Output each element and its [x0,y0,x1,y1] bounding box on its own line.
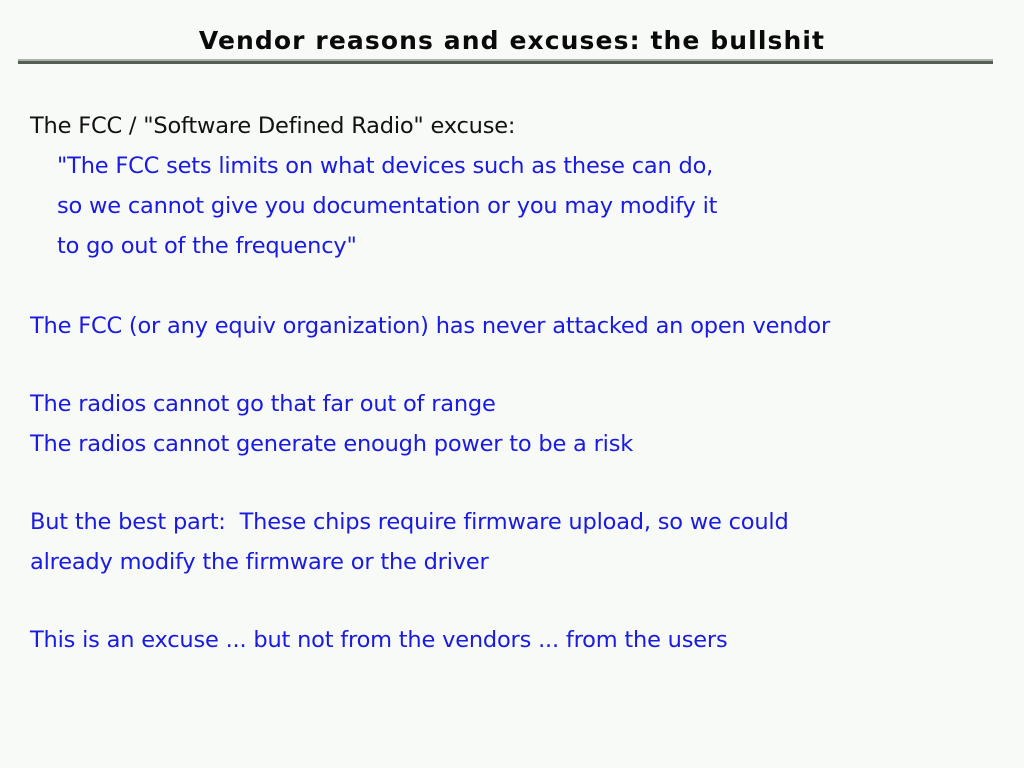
text-line: The radios cannot generate enough power … [30,424,1005,464]
text-line: The FCC / "Software Defined Radio" excus… [30,106,1005,146]
text-block-excuse-from-users: This is an excuse ... but not from the v… [30,620,1005,660]
text-block-fcc-excuse: The FCC / "Software Defined Radio" excus… [30,106,1005,266]
text-line: This is an excuse ... but not from the v… [30,620,1005,660]
text-line: The radios cannot go that far out of ran… [30,384,1005,424]
text-line: so we cannot give you documentation or y… [30,186,1005,226]
divider-band-dark [18,61,993,64]
page-title: Vendor reasons and excuses: the bullshit [0,26,1024,55]
text-block-firmware-upload: But the best part: These chips require f… [30,502,1005,582]
block-spacer [30,582,1005,620]
block-spacer [30,266,1005,306]
block-spacer [30,346,1005,384]
slide-canvas: Vendor reasons and excuses: the bullshit… [0,0,1024,768]
text-block-never-attacked: The FCC (or any equiv organization) has … [30,306,1005,346]
block-spacer [30,464,1005,502]
text-line: The FCC (or any equiv organization) has … [30,306,1005,346]
text-line: to go out of the frequency" [30,226,1005,266]
slide-body: The FCC / "Software Defined Radio" excus… [30,106,1005,660]
text-line: already modify the firmware or the drive… [30,542,1005,582]
text-line: But the best part: These chips require f… [30,502,1005,542]
title-divider [18,59,993,64]
text-block-radio-limits: The radios cannot go that far out of ran… [30,384,1005,464]
text-line: "The FCC sets limits on what devices suc… [30,146,1005,186]
